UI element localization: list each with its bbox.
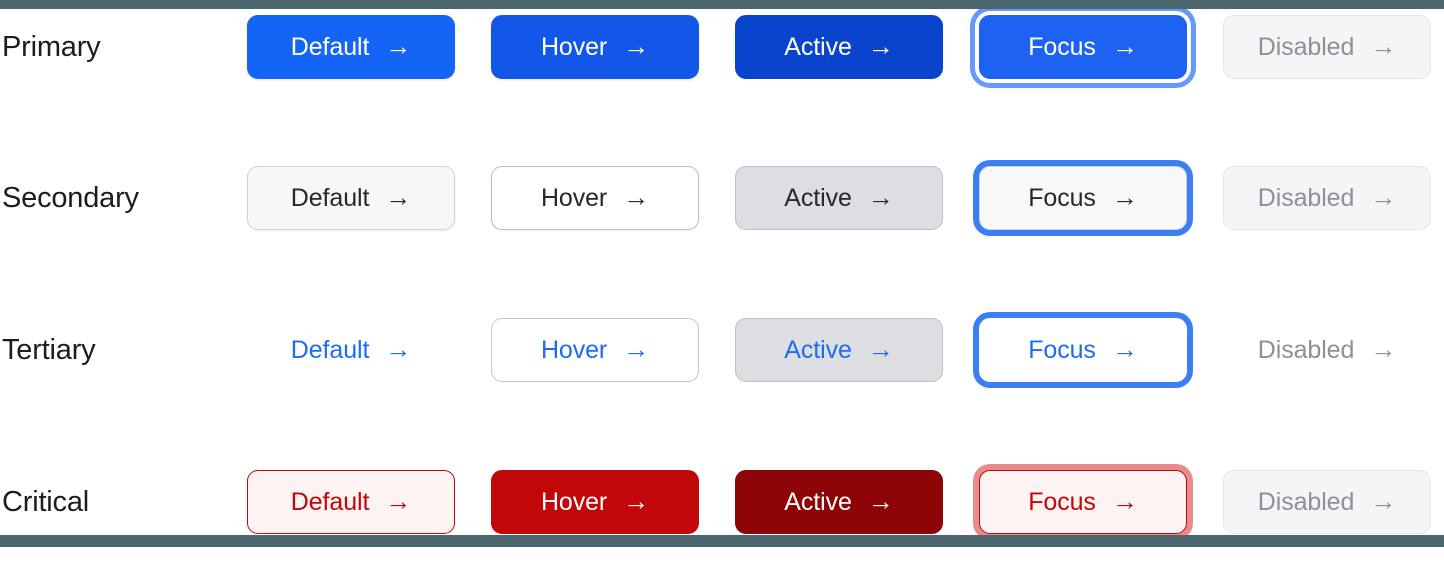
button-tertiary-focus[interactable]: Focus →: [979, 318, 1187, 382]
arrow-right-icon: →: [623, 488, 649, 514]
top-chrome-bar: [0, 0, 1444, 9]
button-tertiary-disabled: Disabled →: [1223, 318, 1431, 382]
cell-primary-focus: Focus →: [979, 0, 1223, 123]
arrow-right-icon: →: [385, 488, 411, 514]
cell-tertiary-active: Active →: [735, 274, 979, 426]
button-label: Active: [784, 33, 851, 62]
button-label: Hover: [541, 184, 607, 213]
arrow-right-icon: →: [623, 184, 649, 210]
cell-tertiary-hover: Hover →: [491, 274, 735, 426]
button-label: Active: [784, 336, 851, 365]
arrow-right-icon: →: [868, 33, 894, 59]
arrow-right-icon: →: [868, 488, 894, 514]
cell-secondary-hover: Hover →: [491, 122, 735, 274]
button-label: Disabled: [1258, 488, 1354, 517]
arrow-right-icon: →: [1112, 488, 1138, 514]
bottom-chrome-bar: [0, 535, 1444, 547]
button-label: Focus: [1028, 33, 1096, 62]
row-label-critical: Critical: [0, 486, 247, 519]
cell-critical-active: Active →: [735, 426, 979, 578]
button-primary-default[interactable]: Default →: [247, 15, 455, 79]
button-label: Focus: [1028, 488, 1096, 517]
button-label: Hover: [541, 488, 607, 517]
arrow-right-icon: →: [385, 33, 411, 59]
cell-secondary-default: Default →: [247, 122, 491, 274]
button-label: Active: [784, 488, 851, 517]
button-tertiary-active[interactable]: Active →: [735, 318, 943, 382]
button-secondary-focus[interactable]: Focus →: [979, 166, 1187, 230]
row-tertiary: Tertiary Default → Hover → Active → Focu…: [0, 274, 1444, 426]
button-label: Active: [784, 184, 851, 213]
button-label: Hover: [541, 33, 607, 62]
cell-primary-hover: Hover →: [491, 0, 735, 123]
cell-primary-disabled: Disabled →: [1223, 0, 1444, 123]
arrow-right-icon: →: [1370, 184, 1396, 210]
arrow-right-icon: →: [623, 33, 649, 59]
row-primary: Primary Default → Hover → Active → Focus…: [0, 0, 1444, 123]
button-critical-focus[interactable]: Focus →: [979, 470, 1187, 534]
cell-critical-hover: Hover →: [491, 426, 735, 578]
button-label: Disabled: [1258, 336, 1354, 365]
arrow-right-icon: →: [1370, 488, 1396, 514]
cell-critical-default: Default →: [247, 426, 491, 578]
button-secondary-default[interactable]: Default →: [247, 166, 455, 230]
button-label: Disabled: [1258, 184, 1354, 213]
cell-primary-active: Active →: [735, 0, 979, 123]
arrow-right-icon: →: [623, 336, 649, 362]
row-critical: Critical Default → Hover → Active → Focu…: [0, 426, 1444, 578]
button-critical-default[interactable]: Default →: [247, 470, 455, 534]
cell-secondary-active: Active →: [735, 122, 979, 274]
arrow-right-icon: →: [385, 184, 411, 210]
cell-primary-default: Default →: [247, 0, 491, 123]
button-primary-focus[interactable]: Focus →: [979, 15, 1187, 79]
button-label: Default: [291, 336, 370, 365]
button-tertiary-hover[interactable]: Hover →: [491, 318, 699, 382]
button-tertiary-default[interactable]: Default →: [247, 318, 455, 382]
button-secondary-disabled: Disabled →: [1223, 166, 1431, 230]
button-secondary-active[interactable]: Active →: [735, 166, 943, 230]
button-primary-active[interactable]: Active →: [735, 15, 943, 79]
arrow-right-icon: →: [1112, 336, 1138, 362]
button-critical-active[interactable]: Active →: [735, 470, 943, 534]
button-label: Hover: [541, 336, 607, 365]
arrow-right-icon: →: [385, 336, 411, 362]
button-label: Focus: [1028, 184, 1096, 213]
arrow-right-icon: →: [1112, 33, 1138, 59]
button-critical-disabled: Disabled →: [1223, 470, 1431, 534]
arrow-right-icon: →: [868, 184, 894, 210]
cell-tertiary-disabled: Disabled →: [1223, 274, 1444, 426]
row-label-secondary: Secondary: [0, 182, 247, 215]
button-states-grid: Primary Default → Hover → Active → Focus…: [0, 0, 1444, 547]
button-label: Default: [291, 184, 370, 213]
button-secondary-hover[interactable]: Hover →: [491, 166, 699, 230]
arrow-right-icon: →: [1370, 336, 1396, 362]
button-primary-disabled: Disabled →: [1223, 15, 1431, 79]
button-label: Default: [291, 488, 370, 517]
cell-critical-focus: Focus →: [979, 426, 1223, 578]
cell-critical-disabled: Disabled →: [1223, 426, 1444, 578]
cell-tertiary-focus: Focus →: [979, 274, 1223, 426]
arrow-right-icon: →: [1370, 33, 1396, 59]
button-label: Default: [291, 33, 370, 62]
cell-tertiary-default: Default →: [247, 274, 491, 426]
button-label: Focus: [1028, 336, 1096, 365]
button-label: Disabled: [1258, 33, 1354, 62]
arrow-right-icon: →: [1112, 184, 1138, 210]
cell-secondary-disabled: Disabled →: [1223, 122, 1444, 274]
button-critical-hover[interactable]: Hover →: [491, 470, 699, 534]
row-secondary: Secondary Default → Hover → Active → Foc…: [0, 122, 1444, 274]
cell-secondary-focus: Focus →: [979, 122, 1223, 274]
arrow-right-icon: →: [868, 336, 894, 362]
button-primary-hover[interactable]: Hover →: [491, 15, 699, 79]
row-label-tertiary: Tertiary: [0, 334, 247, 367]
row-label-primary: Primary: [0, 31, 247, 64]
